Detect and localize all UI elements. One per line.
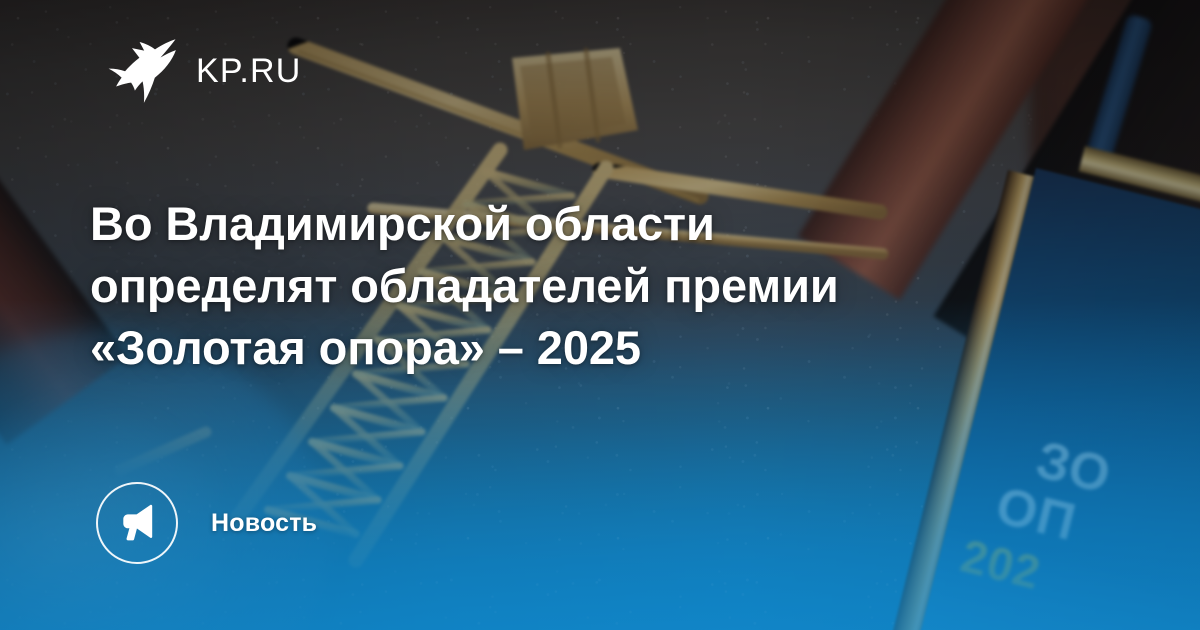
page-title: Во Владимирской области определят облада…: [90, 193, 1030, 379]
headline-line-2: определят обладателей премии: [90, 255, 1030, 317]
headline-line-3: «Золотая опора» – 2025: [90, 317, 1030, 379]
brand-logo[interactable]: KP.RU: [108, 38, 302, 104]
swallow-bird-icon: [108, 38, 178, 104]
category-badge-row[interactable]: Новость: [96, 482, 317, 564]
social-share-card: ЗО ОП 202 KP.RU Во Владимирской области …: [0, 0, 1200, 630]
megaphone-badge: [96, 482, 178, 564]
card-content: KP.RU Во Владимирской области определят …: [0, 0, 1200, 630]
headline-line-1: Во Владимирской области: [90, 193, 1030, 255]
status-badge: Новость: [211, 511, 317, 536]
brand-name-text: KP.RU: [196, 54, 302, 88]
megaphone-icon: [116, 502, 158, 544]
